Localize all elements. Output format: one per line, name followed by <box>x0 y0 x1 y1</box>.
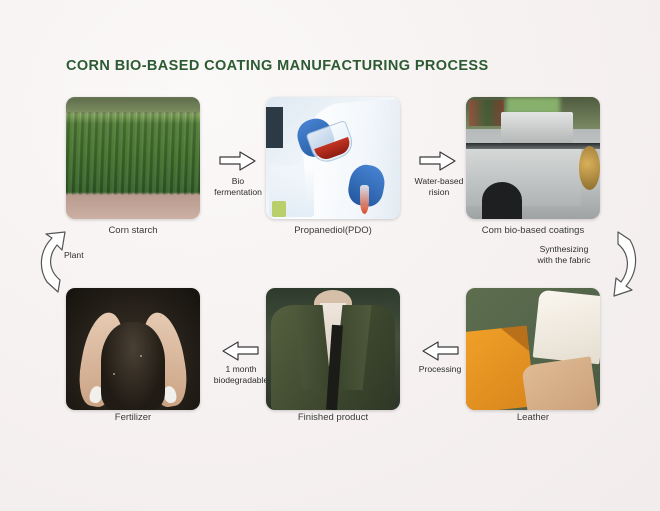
arrow-label-synthesizing: Synthesizing with the fabric <box>521 244 607 265</box>
step-image-finished-product <box>266 288 400 410</box>
caption-propanediol: Propanediol(PDO) <box>266 225 400 236</box>
arrow-synthesizing-icon <box>604 228 644 300</box>
page-title: CORN BIO-BASED COATING MANUFACTURING PRO… <box>66 58 489 74</box>
step-image-fertilizer <box>66 288 200 410</box>
step-image-propanediol <box>266 97 400 219</box>
caption-finished-product: Finished product <box>266 412 400 423</box>
arrow-processing-icon <box>420 340 460 362</box>
arrow-plant-icon <box>34 230 74 296</box>
arrow-biodegradable-icon <box>220 340 260 362</box>
arrow-label-bio-fermentation: Bio fermentation <box>202 176 274 197</box>
arrow-label-water-based: Water-based rision <box>402 176 476 197</box>
arrow-label-processing: Processing <box>406 364 474 375</box>
caption-fertilizer: Fertilizer <box>66 412 200 423</box>
arrow-label-plant: Plant <box>64 250 114 261</box>
step-image-leather <box>466 288 600 410</box>
arrow-water-based-icon <box>418 150 458 172</box>
step-image-bio-based-coatings <box>466 97 600 219</box>
caption-bio-based-coatings: Com bio-based coatings <box>466 225 600 236</box>
caption-leather: Leather <box>466 412 600 423</box>
arrow-bio-fermentation-icon <box>218 150 258 172</box>
caption-corn-starch: Corn starch <box>66 225 200 236</box>
step-image-corn-starch <box>66 97 200 219</box>
